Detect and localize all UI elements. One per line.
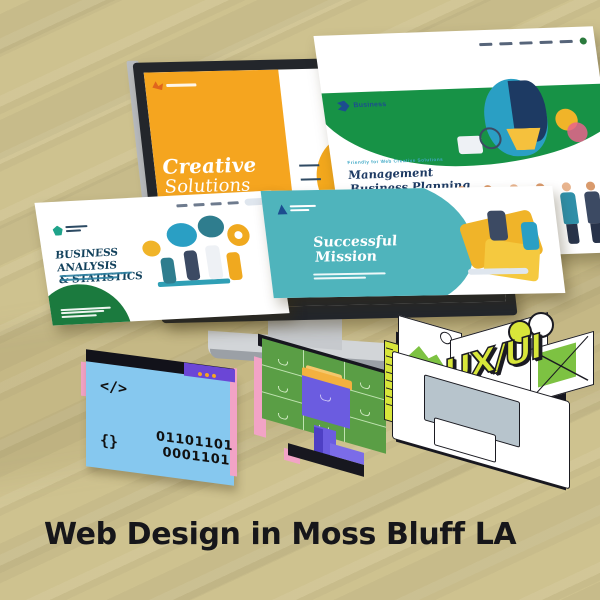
successful-mission-card: Successful Mission [268, 188, 568, 308]
poster-canvas: Creative Solutions [0, 0, 600, 600]
business-logo-label: Business [353, 101, 387, 109]
analysis-card-sheet: BUSINESS ANALYSIS & STATISTICS [34, 190, 289, 325]
mission-baseline [468, 268, 529, 275]
business-logo: Business [337, 99, 388, 112]
triangle-mark-icon [276, 204, 287, 214]
code-tag-icon: </> [100, 376, 127, 398]
business-analysis-statistics-card: BUSINESS ANALYSIS & STATISTICS [44, 196, 294, 336]
creative-heading: Creative Solutions [161, 156, 259, 196]
creative-logo [152, 80, 197, 90]
mission-heading: Successful Mission [312, 234, 436, 267]
filing-cabinet-monitor [254, 344, 396, 476]
mission-card-sheet: Successful Mission [261, 186, 566, 298]
page-title: Web Design in Moss Bluff LA [44, 518, 564, 551]
analysis-logo-label [65, 225, 88, 233]
leaf-mark-icon [52, 225, 64, 235]
code-window-right-edge [230, 368, 237, 477]
speech-bubble-2 [196, 215, 225, 238]
seated-person-3 [226, 252, 243, 280]
nav-dot-icon[interactable] [579, 37, 587, 44]
analysis-logo [52, 224, 89, 236]
seated-person-1 [160, 257, 177, 283]
brand-wordmark [166, 83, 196, 87]
mission-logo-label [290, 205, 317, 213]
mission-underline [313, 272, 386, 281]
analysis-card-nav[interactable] [176, 198, 265, 210]
green-circle-shape [34, 282, 139, 326]
brand-mark-icon [152, 81, 164, 90]
mission-person-2 [520, 222, 539, 250]
arrow-mark-icon [337, 100, 351, 111]
mission-logo [276, 204, 316, 215]
mission-person-1 [487, 211, 509, 241]
uxui-laptop-illustration: UX/UI [382, 318, 592, 480]
seated-person-2 [183, 250, 200, 280]
code-brace-icon: {} [100, 431, 118, 451]
business-card-nav[interactable] [479, 37, 587, 48]
code-browser-window: </> {} 01101101 0001101 [86, 356, 246, 480]
standing-person [205, 245, 224, 279]
